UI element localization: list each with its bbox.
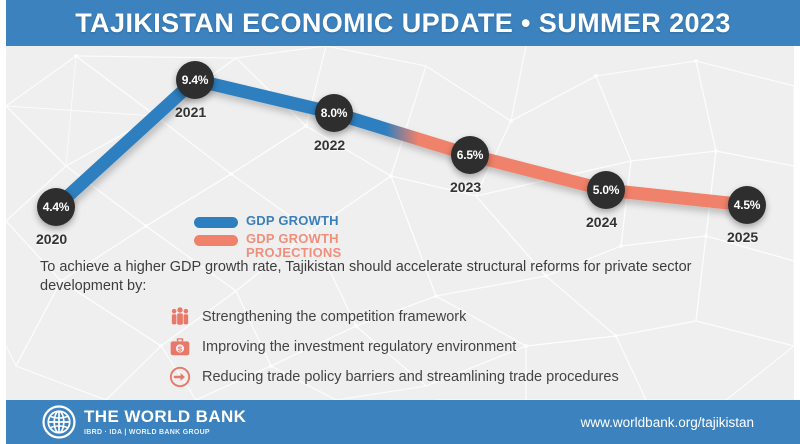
legend-item-gdp-projections: GDP GROWTH PROJECTIONS [194,232,341,260]
data-point-2025: 4.5% [728,186,766,224]
legend-label-gdp-projections: GDP GROWTH [246,231,339,246]
org-name: THE WORLD BANK [84,408,246,426]
briefcase-dollar-icon: $ [168,335,192,359]
gdp-growth-chart: 4.4% 2020 9.4% 2021 8.0% 2022 6.5% 2023 … [6,46,794,256]
data-point-value: 8.0% [321,106,348,120]
legend-label-gdp-growth: GDP GROWTH [246,213,339,228]
header-bar: TAJIKISTAN ECONOMIC UPDATE • SUMMER 2023 [6,0,800,46]
legend-swatch-orange [194,235,238,246]
intro-text: To achieve a higher GDP growth rate, Taj… [40,258,758,296]
people-group-icon [168,305,192,329]
legend-item-gdp-growth: GDP GROWTH [194,214,341,228]
footer-bar: THE WORLD BANK IBRD · IDA | WORLD BANK G… [6,400,800,444]
list-item: Reducing trade policy barriers and strea… [168,363,758,391]
world-bank-logo: THE WORLD BANK IBRD · IDA | WORLD BANK G… [42,405,246,439]
data-point-label-2021: 2021 [175,104,206,120]
data-point-2020: 4.4% [37,188,75,226]
bullet-list: Strengthening the competition framework … [40,303,758,391]
data-point-value: 5.0% [593,183,620,197]
chart-legend: GDP GROWTH GDP GROWTH PROJECTIONS [194,214,341,264]
data-point-value: 9.4% [182,73,209,87]
world-bank-globe-icon [42,405,76,439]
list-item: $ Improving the investment regulatory en… [168,333,758,361]
data-point-2021: 9.4% [176,61,214,99]
website-url[interactable]: www.worldbank.org/tajikistan [581,400,754,444]
data-point-label-2024: 2024 [586,214,617,230]
arrow-circle-right-icon [168,365,192,389]
data-point-value: 4.5% [734,198,761,212]
page-title: TAJIKISTAN ECONOMIC UPDATE • SUMMER 2023 [6,0,800,46]
org-subtitle: IBRD · IDA | WORLD BANK GROUP [84,428,246,437]
data-point-label-2025: 2025 [727,229,758,245]
data-point-2022: 8.0% [315,94,353,132]
chart-line-svg [6,46,794,256]
recommendations-block: To achieve a higher GDP growth rate, Taj… [40,258,758,393]
infographic-poster: TAJIKISTAN ECONOMIC UPDATE • SUMMER 2023 [0,0,800,444]
data-point-2023: 6.5% [451,136,489,174]
list-item-text: Strengthening the competition framework [202,308,466,326]
data-point-label-2020: 2020 [36,231,67,247]
data-point-label-2022: 2022 [314,137,345,153]
list-item-text: Improving the investment regulatory envi… [202,338,516,356]
list-item: Strengthening the competition framework [168,303,758,331]
data-point-value: 4.4% [43,200,70,214]
list-item-text: Reducing trade policy barriers and strea… [202,368,619,386]
data-point-label-2023: 2023 [450,179,481,195]
world-bank-wordmark: THE WORLD BANK IBRD · IDA | WORLD BANK G… [84,408,246,437]
legend-swatch-blue [194,217,238,228]
data-point-value: 6.5% [457,148,484,162]
data-point-2024: 5.0% [587,171,625,209]
